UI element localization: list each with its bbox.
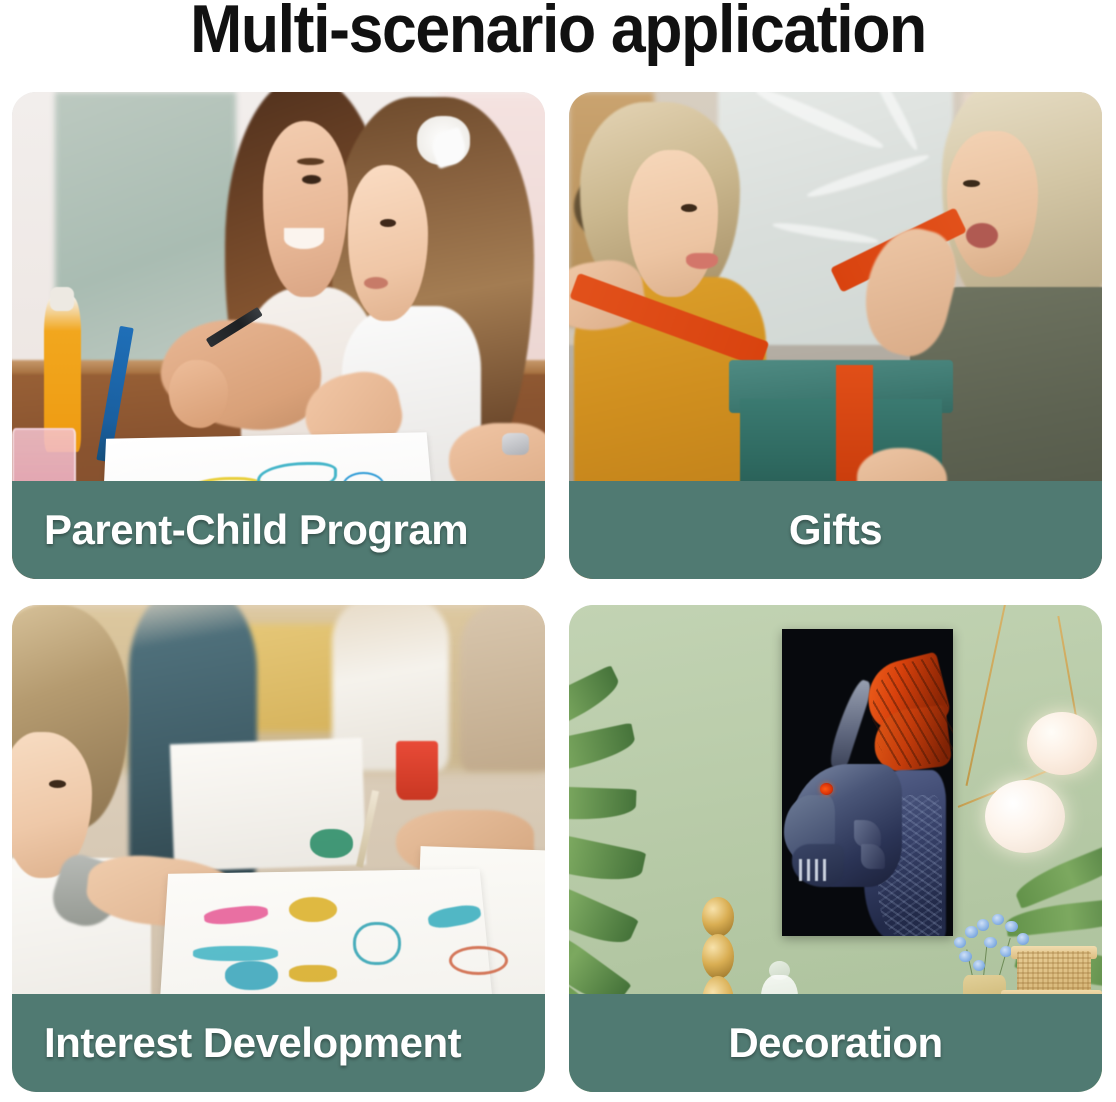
caption-label-parent-child: Parent-Child Program <box>44 506 468 554</box>
page-title: Multi-scenario application <box>45 0 1072 72</box>
caption-label-decoration: Decoration <box>728 1019 942 1067</box>
scenario-card-parent-child[interactable]: Parent-Child Program <box>12 92 545 579</box>
caption-band-interest-development: Interest Development <box>12 994 545 1092</box>
scenario-card-gifts[interactable]: Gifts <box>569 92 1102 579</box>
scenario-grid: Parent-Child Program <box>12 92 1102 1094</box>
scenario-card-decoration[interactable]: Decoration <box>569 605 1102 1092</box>
caption-band-gifts: Gifts <box>569 481 1102 579</box>
caption-label-gifts: Gifts <box>789 506 882 554</box>
dragon-poster <box>782 629 953 936</box>
caption-label-interest-development: Interest Development <box>44 1019 461 1067</box>
infographic-page: Multi-scenario application <box>0 0 1116 1102</box>
caption-band-parent-child: Parent-Child Program <box>12 481 545 579</box>
scenario-card-interest-development[interactable]: Interest Development <box>12 605 545 1092</box>
caption-band-decoration: Decoration <box>569 994 1102 1092</box>
